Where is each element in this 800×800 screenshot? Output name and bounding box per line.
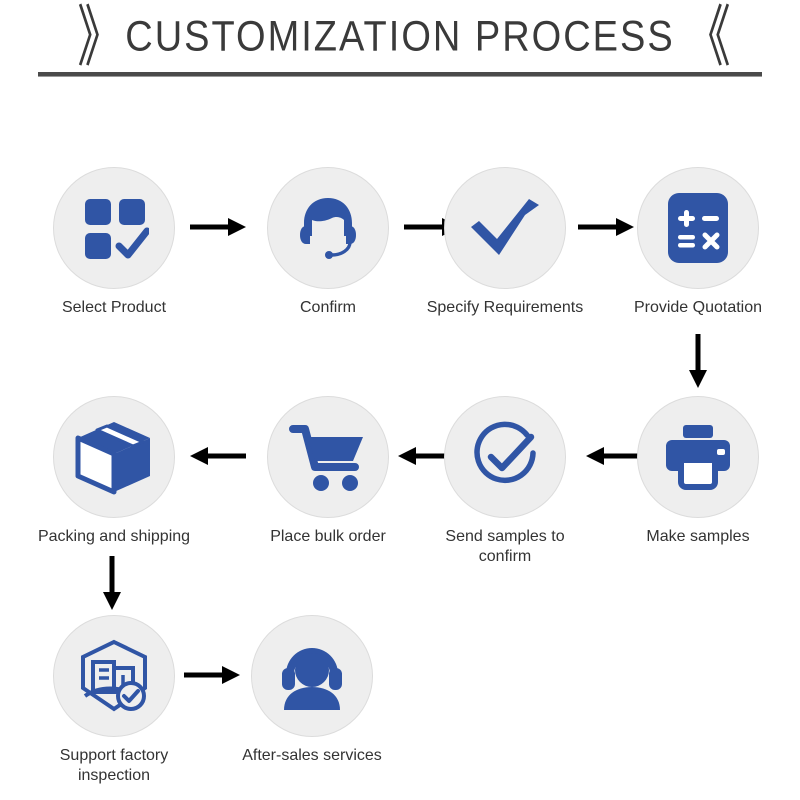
grid-squares-check-icon — [79, 193, 149, 263]
checkmark-icon — [467, 193, 543, 263]
step-icon-circle — [637, 167, 759, 289]
process-step-provide-quotation[interactable]: Provide Quotation — [618, 167, 778, 318]
process-step-packing-and-shipping[interactable]: Packing and shipping — [34, 396, 194, 547]
arrow-place-bulk-order-to-packing-and-shipping — [190, 444, 246, 468]
arrow-select-product-to-confirm — [190, 215, 246, 239]
calculator-icon — [665, 190, 731, 266]
printer-icon — [659, 422, 737, 492]
step-icon-circle — [267, 167, 389, 289]
package-box-icon — [75, 419, 153, 495]
step-label: Confirm — [248, 298, 408, 318]
shopping-cart-icon — [289, 421, 367, 493]
step-icon-circle — [637, 396, 759, 518]
step-icon-circle — [53, 615, 175, 737]
process-step-select-product[interactable]: Select Product — [34, 167, 194, 318]
support-agent-icon — [292, 192, 364, 264]
process-step-specify-requirements[interactable]: Specify Requirements — [425, 167, 585, 318]
step-icon-circle — [53, 396, 175, 518]
chevron-double-left-icon: 《 — [685, 4, 723, 71]
step-icon-circle — [267, 396, 389, 518]
process-step-place-bulk-order[interactable]: Place bulk order — [248, 396, 408, 547]
step-label: Select Product — [34, 298, 194, 318]
headset-person-icon — [274, 640, 350, 712]
process-step-after-sales-services[interactable]: After-sales services — [232, 615, 392, 766]
process-step-make-samples[interactable]: Make samples — [618, 396, 778, 547]
step-label: Support factory inspection — [34, 746, 194, 787]
factory-inspection-badge-icon — [75, 638, 153, 714]
step-label: Packing and shipping — [34, 527, 194, 547]
step-icon-circle — [251, 615, 373, 737]
step-label: Send samples to confirm — [425, 527, 585, 568]
process-step-confirm[interactable]: Confirm — [248, 167, 408, 318]
chevron-double-right-icon: 》 — [77, 4, 115, 71]
title-row: 》 CUSTOMIZATION PROCESS 《 — [0, 8, 800, 66]
step-icon-circle — [53, 167, 175, 289]
process-step-send-samples-to-confirm[interactable]: Send samples to confirm — [425, 396, 585, 568]
arrow-provide-quotation-to-make-samples — [686, 334, 710, 388]
step-label: Specify Requirements — [425, 298, 585, 318]
step-label: Provide Quotation — [618, 298, 778, 318]
page-header: 》 CUSTOMIZATION PROCESS 《 — [0, 0, 800, 92]
arrow-packing-and-shipping-to-support-factory-inspection — [100, 556, 124, 610]
title-divider — [38, 72, 762, 77]
step-label: After-sales services — [232, 746, 392, 766]
step-label: Place bulk order — [248, 527, 408, 547]
step-icon-circle — [444, 167, 566, 289]
circle-check-icon — [467, 419, 543, 495]
step-icon-circle — [444, 396, 566, 518]
step-label: Make samples — [618, 527, 778, 547]
process-step-support-factory-inspection[interactable]: Support factory inspection — [34, 615, 194, 787]
page-title: CUSTOMIZATION PROCESS — [125, 13, 674, 61]
